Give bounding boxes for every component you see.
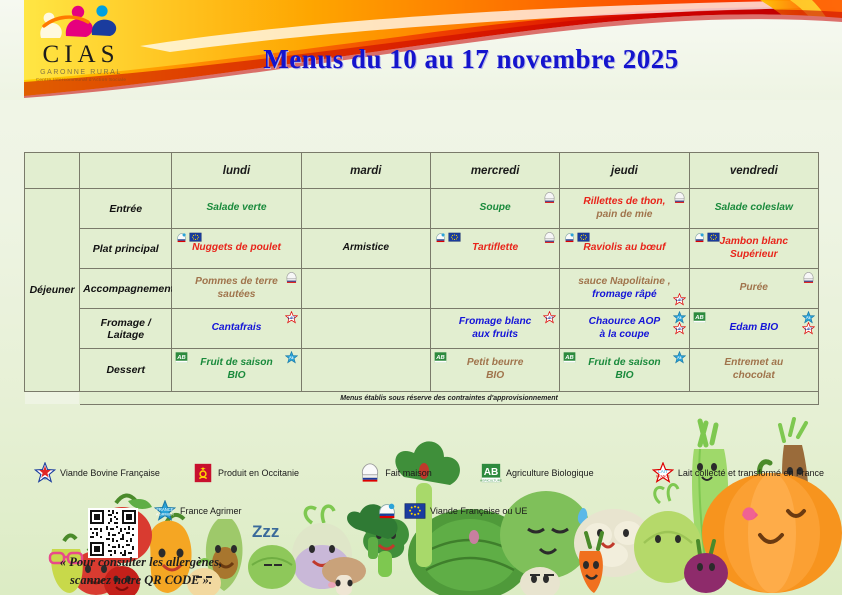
menu-table-body: Déjeuner Entrée Salade verte Soupe Ri — [25, 189, 819, 405]
dish-text: Chaource AOP — [563, 316, 685, 329]
svg-text:AB: AB — [484, 467, 499, 478]
cell-entree-jeudi[interactable]: Rillettes de thon, pain de mie — [560, 189, 689, 229]
table-row-plat-principal: Plat principal Nuggets de poulet Armisti… — [25, 229, 819, 269]
allergens-notice: « Pour consulter les allergènes, scannez… — [26, 553, 256, 589]
legend-item-lait-france: LAITFRANCE Lait collecté et transformé e… — [652, 462, 824, 484]
svg-text:FRANCE: FRANCE — [156, 507, 173, 512]
cell-accomp-jeudi[interactable]: LAIT sauce Napolitaine , fromage râpé — [560, 269, 689, 309]
legend-label: Produit en Occitanie — [218, 468, 299, 478]
legend-item-viande-francaise-ue: Viande Française ou UE — [376, 500, 527, 522]
table-row-dessert: Dessert AB FA Fruit de saison BIO AB — [25, 349, 819, 392]
table-row-fromage-laitage: Fromage / Laitage LAIT Cantafrais LAIT F… — [25, 309, 819, 349]
dish-text: BIO — [563, 370, 685, 383]
cell-fromage-jeudi[interactable]: FA LAIT Chaource AOP à la coupe — [560, 309, 689, 349]
cell-accomp-mardi[interactable] — [301, 269, 430, 309]
day-header-mardi: mardi — [301, 153, 430, 189]
dish-text: Purée — [693, 282, 815, 295]
dish-text: Salade coleslaw — [693, 202, 815, 215]
cell-plat-mardi[interactable]: Armistice — [301, 229, 430, 269]
cell-entree-lundi[interactable]: Salade verte — [172, 189, 301, 229]
allergens-qr-code[interactable] — [88, 508, 138, 558]
svg-text:Zzz: Zzz — [252, 522, 279, 541]
table-row-entree: Déjeuner Entrée Salade verte Soupe Ri — [25, 189, 819, 229]
day-header-jeudi: jeudi — [560, 153, 689, 189]
cell-fromage-mercredi[interactable]: LAIT Fromage blanc aux fruits — [430, 309, 559, 349]
course-label-entree: Entrée — [80, 189, 172, 229]
menu-table-header-row: lundi mardi mercredi jeudi vendredi — [25, 153, 819, 189]
dish-text: Edam BIO — [693, 322, 815, 335]
dish-text: Nuggets de poulet — [175, 242, 297, 255]
union-europeenne-icon — [404, 500, 426, 522]
agriculture-biologique-icon: ABAGRICULTURE — [480, 462, 502, 484]
cell-dessert-mercredi[interactable]: AB Petit beurre BIO — [430, 349, 559, 392]
dish-text: Salade verte — [175, 202, 297, 215]
dish-text: BIO — [175, 370, 297, 383]
dish-text: chocolat — [693, 370, 815, 383]
dish-text: BIO — [434, 370, 556, 383]
legend-item-viande-bovine-francaise: VBF Viande Bovine Française — [34, 462, 192, 484]
viande-francaise-icon — [376, 500, 398, 522]
viande-bovine-francaise-icon: VBF — [34, 462, 56, 484]
table-footnote-row: Menus établis sous réserve des contraint… — [25, 392, 819, 405]
cias-logo-subtitle-2: Centre Intercommunal d'Action Sociale — [26, 77, 136, 83]
produit-en-occitanie-icon — [192, 462, 214, 484]
cell-dessert-lundi[interactable]: AB FA Fruit de saison BIO — [172, 349, 301, 392]
legend: VBF Viande Bovine Française Produit en O… — [34, 462, 824, 522]
cell-accomp-lundi[interactable]: Pommes de terre sautées — [172, 269, 301, 309]
svg-text:FA: FA — [806, 316, 811, 320]
legend-item-france-agrimer: FRANCEAGRIMER France Agrimer — [154, 500, 376, 522]
course-label-fromage-laitage: Fromage / Laitage — [80, 309, 172, 349]
meal-label-dejeuner: Déjeuner — [25, 189, 80, 392]
day-header-mercredi: mercredi — [430, 153, 559, 189]
table-row-accompagnement: Accompagnement Pommes de terre sautées L… — [25, 269, 819, 309]
cell-plat-vendredi[interactable]: Jambon blanc Supérieur — [689, 229, 818, 269]
dish-text: Armistice — [305, 242, 427, 255]
fait-maison-icon — [359, 462, 381, 484]
header-corner-course — [80, 153, 172, 189]
cell-dessert-vendredi[interactable]: Entremet au chocolat — [689, 349, 818, 392]
menu-footnote: Menus établis sous réserve des contraint… — [80, 392, 819, 405]
dish-text: Tartiflette — [434, 242, 556, 255]
cell-dessert-jeudi[interactable]: AB FA Fruit de saison BIO — [560, 349, 689, 392]
svg-text:LAIT: LAIT — [658, 469, 668, 474]
dish-text: aux fruits — [434, 329, 556, 342]
legend-label: Viande Française ou UE — [430, 506, 527, 516]
dish-text: sautées — [175, 289, 297, 302]
dish-text: Jambon blanc — [693, 236, 815, 249]
lait-france-icon: LAITFRANCE — [652, 462, 674, 484]
legend-label: Agriculture Biologique — [506, 468, 594, 478]
footnote-spacer — [25, 392, 80, 405]
legend-row-1: VBF Viande Bovine Française Produit en O… — [34, 462, 824, 484]
legend-item-fait-maison: Fait maison — [359, 462, 480, 484]
dish-text: fromage râpé — [563, 289, 685, 302]
cell-plat-mercredi[interactable]: Tartiflette — [430, 229, 559, 269]
dish-text: sauce Napolitaine , — [563, 276, 685, 289]
page-title: Menus du 10 au 17 novembre 2025 — [0, 44, 842, 75]
svg-text:AGRICULTURE: AGRICULTURE — [480, 478, 502, 482]
dish-text: Petit beurre — [434, 357, 556, 370]
dish-text: Pommes de terre — [175, 276, 297, 289]
legend-label: Lait collecté et transformé en France — [678, 468, 824, 478]
dish-text: Fromage blanc — [434, 316, 556, 329]
cell-fromage-vendredi[interactable]: AB FA LAIT Edam BIO — [689, 309, 818, 349]
dish-text: Supérieur — [693, 249, 815, 262]
cell-entree-mardi[interactable] — [301, 189, 430, 229]
dish-text: Entremet au — [693, 357, 815, 370]
svg-text:VBF: VBF — [41, 476, 49, 480]
legend-label: Viande Bovine Française — [60, 468, 160, 478]
svg-text:FRANCE: FRANCE — [656, 475, 670, 479]
day-header-vendredi: vendredi — [689, 153, 818, 189]
cell-plat-jeudi[interactable]: Raviolis au bœuf — [560, 229, 689, 269]
dish-text: pain de mie — [563, 209, 685, 222]
cell-dessert-mardi[interactable] — [301, 349, 430, 392]
cell-fromage-mardi[interactable] — [301, 309, 430, 349]
dish-text: Raviolis au bœuf — [563, 242, 685, 255]
svg-text:AB: AB — [694, 315, 703, 321]
legend-label: France Agrimer — [180, 506, 242, 516]
day-header-lundi: lundi — [172, 153, 301, 189]
course-label-accompagnement: Accompagnement — [80, 269, 172, 309]
cias-logo-mark — [26, 2, 136, 42]
legend-item-agriculture-biologique: ABAGRICULTURE Agriculture Biologique — [480, 462, 652, 484]
legend-row-2: FRANCEAGRIMER France Agrimer Viande Fran… — [34, 500, 824, 522]
legend-item-produit-en-occitanie: Produit en Occitanie — [192, 462, 359, 484]
cell-entree-mercredi[interactable]: Soupe — [430, 189, 559, 229]
cell-accomp-mercredi[interactable] — [430, 269, 559, 309]
cell-entree-vendredi[interactable]: Salade coleslaw — [689, 189, 818, 229]
menu-table: lundi mardi mercredi jeudi vendredi Déje… — [24, 152, 819, 405]
svg-text:LAIT: LAIT — [287, 316, 295, 320]
allergens-notice-line2: scannez notre QR CODE ». — [26, 571, 256, 589]
menu-table-container: lundi mardi mercredi jeudi vendredi Déje… — [24, 152, 819, 405]
course-label-dessert: Dessert — [80, 349, 172, 392]
france-agrimer-icon: FRANCEAGRIMER — [154, 500, 176, 522]
dish-text: Fruit de saison — [563, 357, 685, 370]
dish-text: Soupe — [434, 202, 556, 215]
dish-text: à la coupe — [563, 329, 685, 342]
dish-text: Fruit de saison — [175, 357, 297, 370]
dish-text: Cantafrais — [175, 322, 297, 335]
legend-label: Fait maison — [385, 468, 432, 478]
course-label-plat-principal: Plat principal — [80, 229, 172, 269]
svg-text:AGRIMER: AGRIMER — [156, 513, 174, 517]
menu-table-head: lundi mardi mercredi jeudi vendredi — [25, 153, 819, 189]
cell-fromage-lundi[interactable]: LAIT Cantafrais — [172, 309, 301, 349]
header-corner-meal — [25, 153, 80, 189]
dish-text: Rillettes de thon, — [563, 196, 685, 209]
allergens-notice-line1: « Pour consulter les allergènes, — [26, 553, 256, 571]
cell-accomp-vendredi[interactable]: Purée — [689, 269, 818, 309]
cell-plat-lundi[interactable]: Nuggets de poulet — [172, 229, 301, 269]
